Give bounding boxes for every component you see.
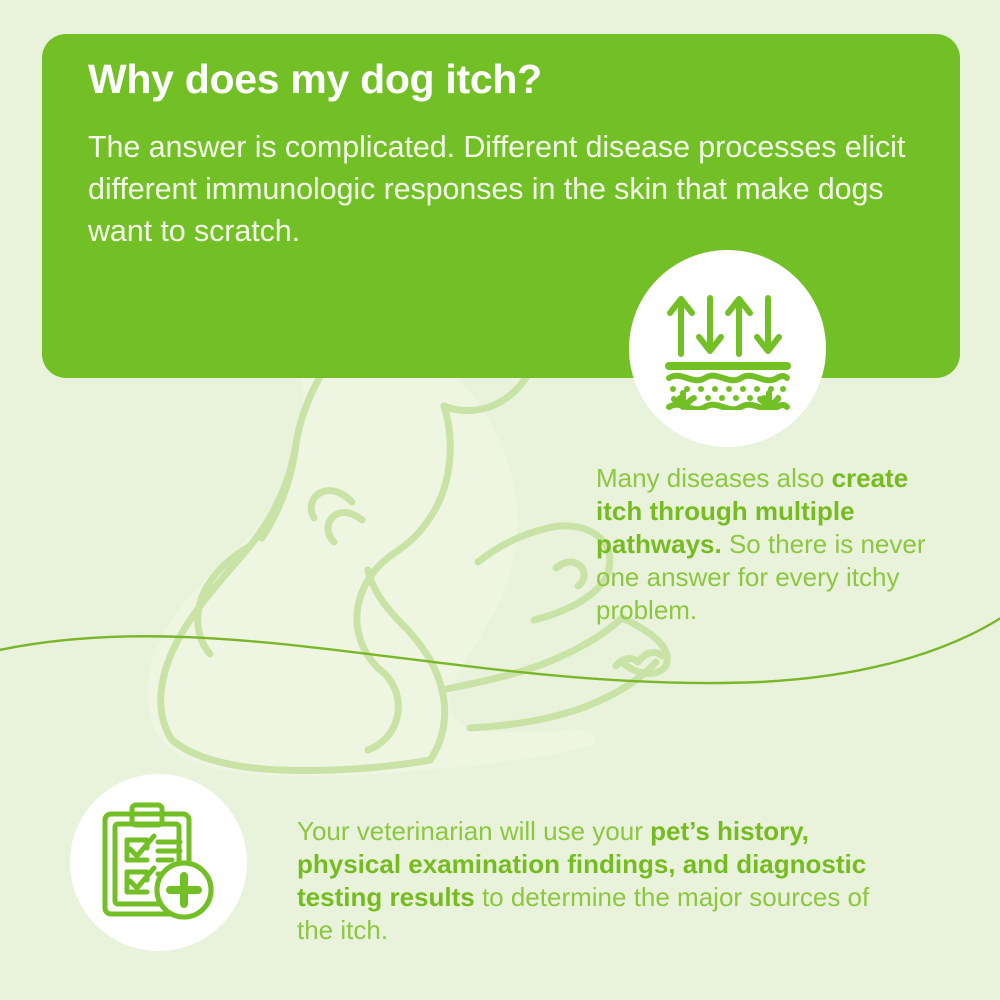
middle-paragraph: Many diseases also create itch through m… — [596, 462, 926, 627]
infographic-page: Why does my dog itch? The answer is comp… — [0, 0, 1000, 1000]
banner-description: The answer is complicated. Different dis… — [88, 126, 954, 252]
skin-barrier-icon-badge — [629, 250, 826, 447]
clipboard-checklist-plus-icon — [100, 802, 218, 924]
bottom-paragraph: Your veterinarian will use your pet’s hi… — [297, 815, 912, 947]
body-text: Your veterinarian will use your — [297, 816, 650, 846]
page-title: Why does my dog itch? — [88, 56, 542, 103]
clipboard-icon-badge — [70, 774, 247, 951]
body-text: Many diseases also — [596, 463, 832, 493]
skin-barrier-arrows-icon — [663, 288, 793, 410]
